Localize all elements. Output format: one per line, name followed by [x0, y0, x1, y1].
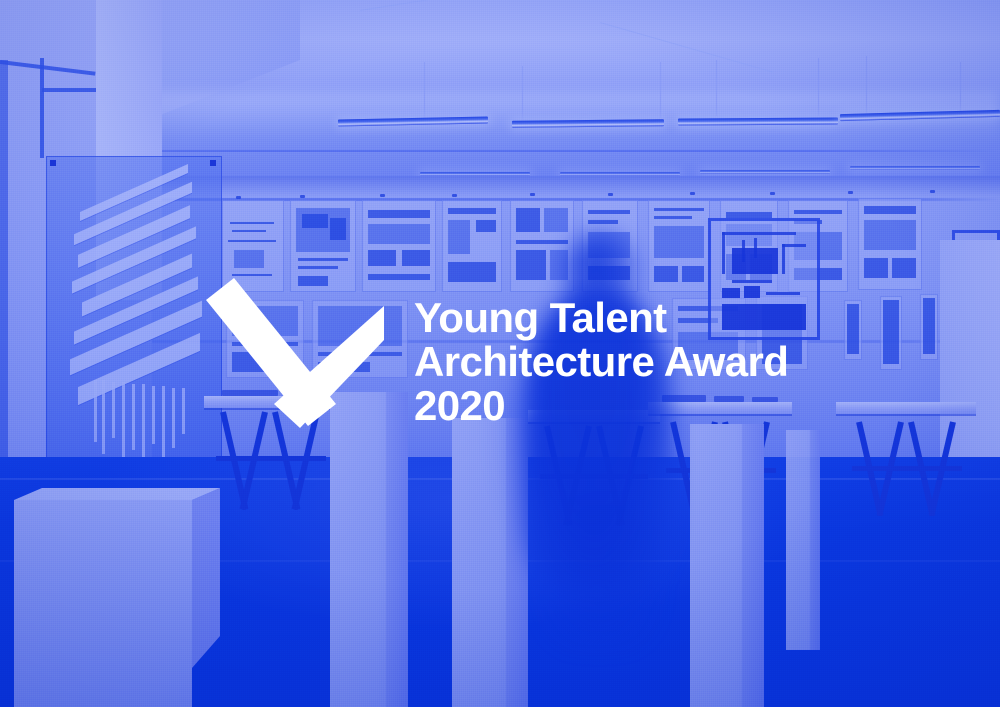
- poster-canvas: Young Talent Architecture Award 2020: [0, 0, 1000, 707]
- title-line-3: 2020: [414, 384, 884, 428]
- title-line-1: Young Talent: [414, 296, 884, 340]
- title-overlay: Young Talent Architecture Award 2020: [0, 0, 1000, 707]
- poster-title: Young Talent Architecture Award 2020: [414, 296, 884, 428]
- ytaa-logo-mark[interactable]: [196, 278, 396, 434]
- title-line-2: Architecture Award: [414, 340, 884, 384]
